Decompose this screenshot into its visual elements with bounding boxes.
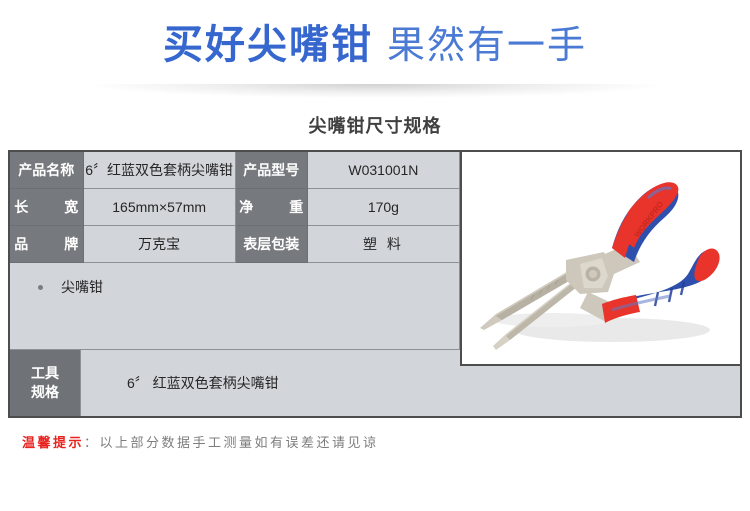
tool-spec-label-line1: 工具	[10, 364, 80, 383]
tool-spec-label-line2: 规格	[10, 383, 80, 402]
tool-spec-label: 工具 规格	[9, 350, 81, 418]
banner-shadow-divider	[0, 84, 750, 102]
table-row: 品 牌 万克宝 表层包装 塑 料	[9, 226, 460, 263]
spec-label-net-weight-text: 净 重	[239, 197, 303, 217]
spec-label-brand: 品 牌	[9, 226, 83, 263]
spec-label-product-name: 产品名称	[9, 151, 83, 189]
product-photo-cell: WORKPRO	[460, 150, 742, 366]
footer-note: 温馨提示：以上部分数据手工测量如有误差还请见谅	[22, 432, 750, 452]
bullet-dot-icon	[38, 285, 43, 290]
spec-label-dimensions-text: 长 宽	[14, 197, 78, 217]
spec-value-product-model: W031001N	[307, 151, 459, 189]
spec-label-dimensions: 长 宽	[9, 189, 83, 226]
spec-label-packaging: 表层包装	[235, 226, 307, 263]
spec-label-brand-text: 品 牌	[14, 234, 78, 254]
spec-label-product-model: 产品型号	[235, 151, 307, 189]
product-photo-pliers: WORKPRO	[462, 152, 740, 364]
spec-value-product-name: 6〞红蓝双色套柄尖嘴钳	[83, 151, 235, 189]
table-row: 尖嘴钳	[9, 263, 460, 351]
spec-value-net-weight: 170g	[307, 189, 459, 226]
table-row: 长 宽 165mm×57mm 净 重 170g	[9, 189, 460, 226]
table-row: 产品名称 6〞红蓝双色套柄尖嘴钳 产品型号 W031001N	[9, 151, 460, 189]
footer-note-highlight: 温馨提示	[22, 435, 84, 450]
spec-value-brand: 万克宝	[83, 226, 235, 263]
spec-value-packaging: 塑 料	[307, 226, 459, 263]
banner-title-strong: 买好尖嘴钳	[163, 23, 373, 67]
page-banner: 买好尖嘴钳果然有一手	[0, 0, 750, 90]
banner-title-light: 果然有一手	[387, 25, 587, 67]
spec-table: 产品名称 6〞红蓝双色套柄尖嘴钳 产品型号 W031001N 长 宽 165mm…	[8, 150, 460, 351]
spec-value-dimensions: 165mm×57mm	[83, 189, 235, 226]
list-item: 尖嘴钳	[38, 277, 459, 297]
footer-note-text: ：以上部分数据手工测量如有误差还请见谅	[84, 435, 379, 450]
page-title: 尖嘴钳尺寸规格	[0, 112, 750, 140]
list-item-label: 尖嘴钳	[61, 277, 103, 297]
spec-label-net-weight: 净 重	[235, 189, 307, 226]
spec-table-wrapper: 产品名称 6〞红蓝双色套柄尖嘴钳 产品型号 W031001N 长 宽 165mm…	[8, 150, 742, 418]
banner-title: 买好尖嘴钳果然有一手	[163, 25, 587, 65]
spec-bullet-list-cell: 尖嘴钳	[9, 263, 460, 351]
